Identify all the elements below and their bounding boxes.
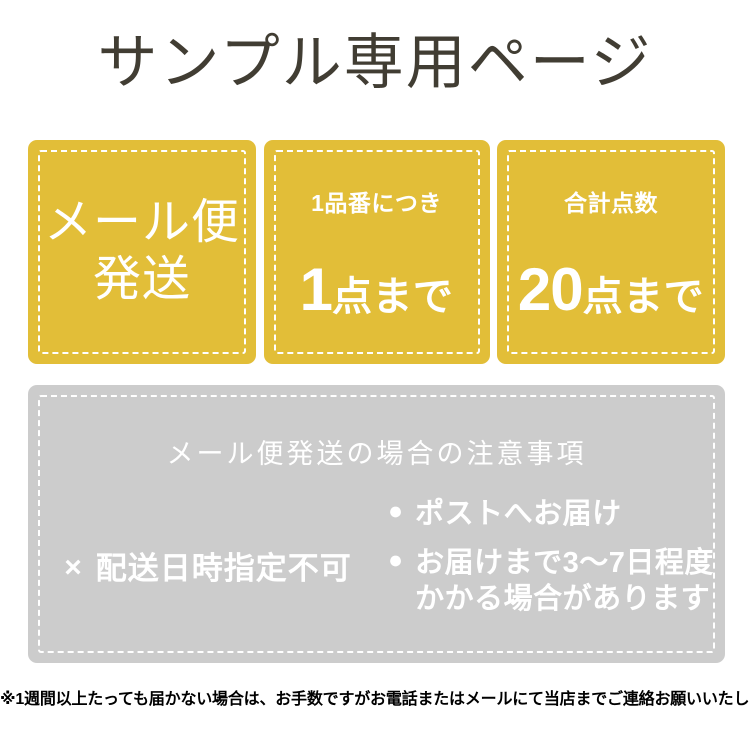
card-total-limit-amount: 20 点まで bbox=[497, 260, 725, 320]
notice-bullet-line: お届けまで3〜7日程度 bbox=[415, 546, 714, 581]
card-shipping-method: メール便 発送 bbox=[28, 140, 256, 364]
info-card-row: メール便 発送 1品番につき 1 点まで 合計点数 20 点まで bbox=[28, 140, 725, 364]
card-per-item-limit: 1品番につき 1 点まで bbox=[264, 140, 490, 364]
card-shipping-method-line1: メール便 bbox=[28, 195, 256, 252]
card-total-limit-unit: 点まで bbox=[583, 277, 705, 317]
card-total-limit-number: 20 bbox=[518, 260, 583, 320]
notice-bullet-text: お届けまで3〜7日程度 かかる場合があります bbox=[415, 546, 714, 617]
notice-bullet-text: ポストへお届け bbox=[415, 497, 622, 532]
card-per-item-limit-unit: 点まで bbox=[332, 277, 454, 317]
notice-bullet-line: ポストへお届け bbox=[415, 498, 622, 530]
notice-body: × 配送日時指定不可 ● ポストへお届け ● お届けまで3〜7日程度 かかる場合… bbox=[28, 495, 725, 635]
card-per-item-limit-number: 1 bbox=[300, 260, 332, 320]
cross-mark-icon: × bbox=[64, 553, 82, 583]
card-per-item-limit-body: 1品番につき 1 点まで bbox=[264, 184, 490, 320]
card-per-item-limit-label: 1品番につき bbox=[264, 184, 490, 218]
bullet-dot-icon: ● bbox=[388, 546, 403, 574]
notice-bullet-column: ● ポストへお届け ● お届けまで3〜7日程度 かかる場合があります bbox=[388, 495, 725, 631]
notice-restriction-item: × 配送日時指定不可 bbox=[64, 553, 352, 584]
card-total-limit-body: 合計点数 20 点まで bbox=[497, 184, 725, 320]
page-title: サンプル専用ページ bbox=[0, 28, 750, 97]
notice-bullet-item: ● お届けまで3〜7日程度 かかる場合があります bbox=[388, 546, 725, 617]
bullet-dot-icon: ● bbox=[388, 497, 403, 525]
card-shipping-method-body: メール便 発送 bbox=[28, 195, 256, 308]
notice-heading: メール便発送の場合の注意事項 bbox=[28, 432, 725, 471]
notice-bullet-item: ● ポストへお届け bbox=[388, 497, 725, 532]
notice-restriction-column: × 配送日時指定不可 bbox=[28, 495, 388, 635]
notice-bullet-line: かかる場合があります bbox=[415, 582, 714, 617]
notice-restriction-text: 配送日時指定不可 bbox=[96, 553, 352, 584]
sample-shipping-banner: サンプル専用ページ メール便 発送 1品番につき 1 点まで bbox=[0, 0, 750, 750]
card-shipping-method-line2: 発送 bbox=[28, 252, 256, 309]
card-total-limit-label: 合計点数 bbox=[497, 184, 725, 218]
card-total-limit: 合計点数 20 点まで bbox=[497, 140, 725, 364]
notice-panel: メール便発送の場合の注意事項 × 配送日時指定不可 ● ポストへお届け ● bbox=[28, 385, 725, 663]
card-per-item-limit-amount: 1 点まで bbox=[264, 260, 490, 320]
footnote-text: ※1週間以上たっても届かない場合は、お手数ですがお電話またはメールにて当店までご… bbox=[0, 685, 750, 709]
